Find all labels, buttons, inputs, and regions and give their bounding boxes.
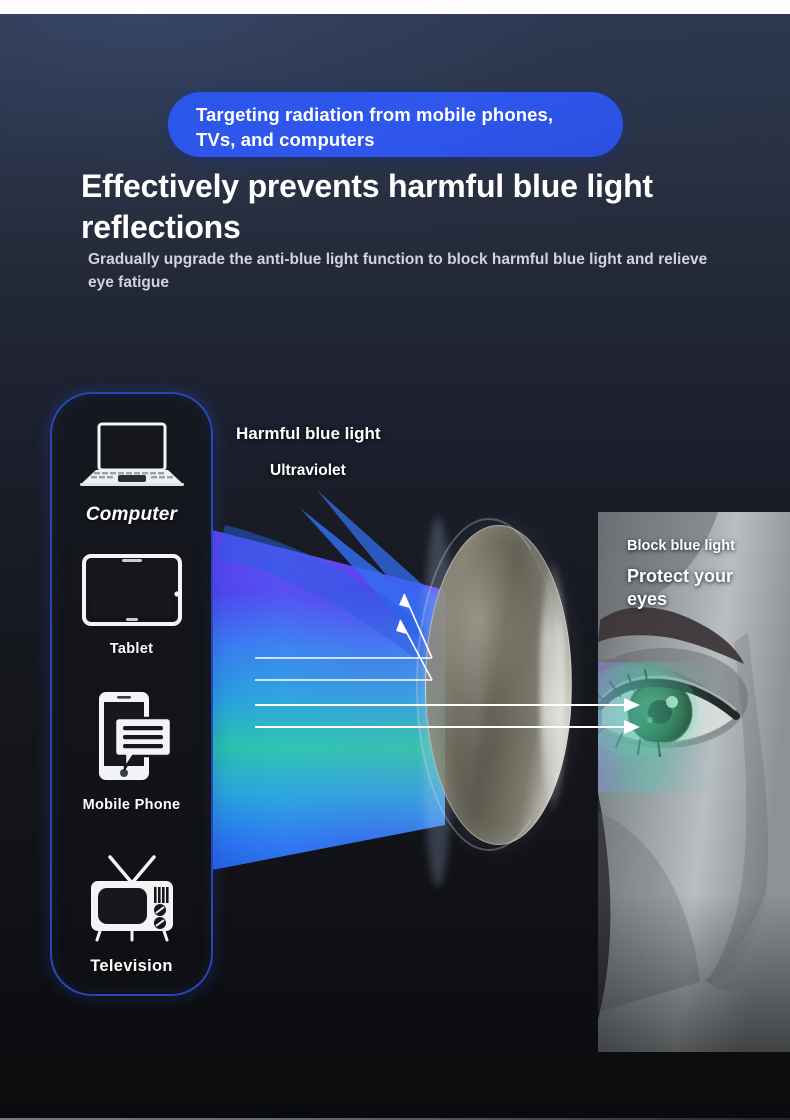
- page-subtitle: Gradually upgrade the anti-blue light fu…: [88, 248, 728, 294]
- device-label-television: Television: [90, 957, 172, 975]
- retro-tv-icon: [50, 855, 213, 948]
- device-item-tablet[interactable]: Tablet: [50, 554, 213, 658]
- badge-line-2: TVs, and computers: [196, 127, 601, 152]
- smartphone-message-icon: [50, 690, 213, 787]
- promo-banner-page: Targeting radiation from mobile phones, …: [0, 0, 790, 1120]
- tablet-icon: [50, 554, 213, 631]
- device-label-tablet: Tablet: [110, 641, 153, 657]
- label-block-blue-light: Block blue light: [627, 538, 735, 554]
- badge-line-1: Targeting radiation from mobile phones,: [196, 102, 601, 127]
- device-label-mobile-phone: Mobile Phone: [83, 797, 181, 813]
- laptop-icon: [50, 420, 213, 495]
- targeting-badge: Targeting radiation from mobile phones, …: [168, 92, 623, 157]
- page-title: Effectively prevents harmful blue light …: [81, 166, 731, 248]
- label-ultraviolet: Ultraviolet: [270, 462, 346, 480]
- device-label-computer: Computer: [86, 504, 177, 525]
- device-item-mobile-phone[interactable]: Mobile Phone: [50, 690, 213, 814]
- anti-blue-light-lens: [425, 525, 572, 845]
- label-protect-your-eyes: Protect your eyes: [627, 565, 767, 611]
- top-white-strip: [0, 0, 790, 14]
- device-item-television[interactable]: Television: [50, 855, 213, 976]
- device-item-computer[interactable]: Computer: [50, 420, 213, 526]
- label-harmful-blue-light: Harmful blue light: [236, 424, 381, 444]
